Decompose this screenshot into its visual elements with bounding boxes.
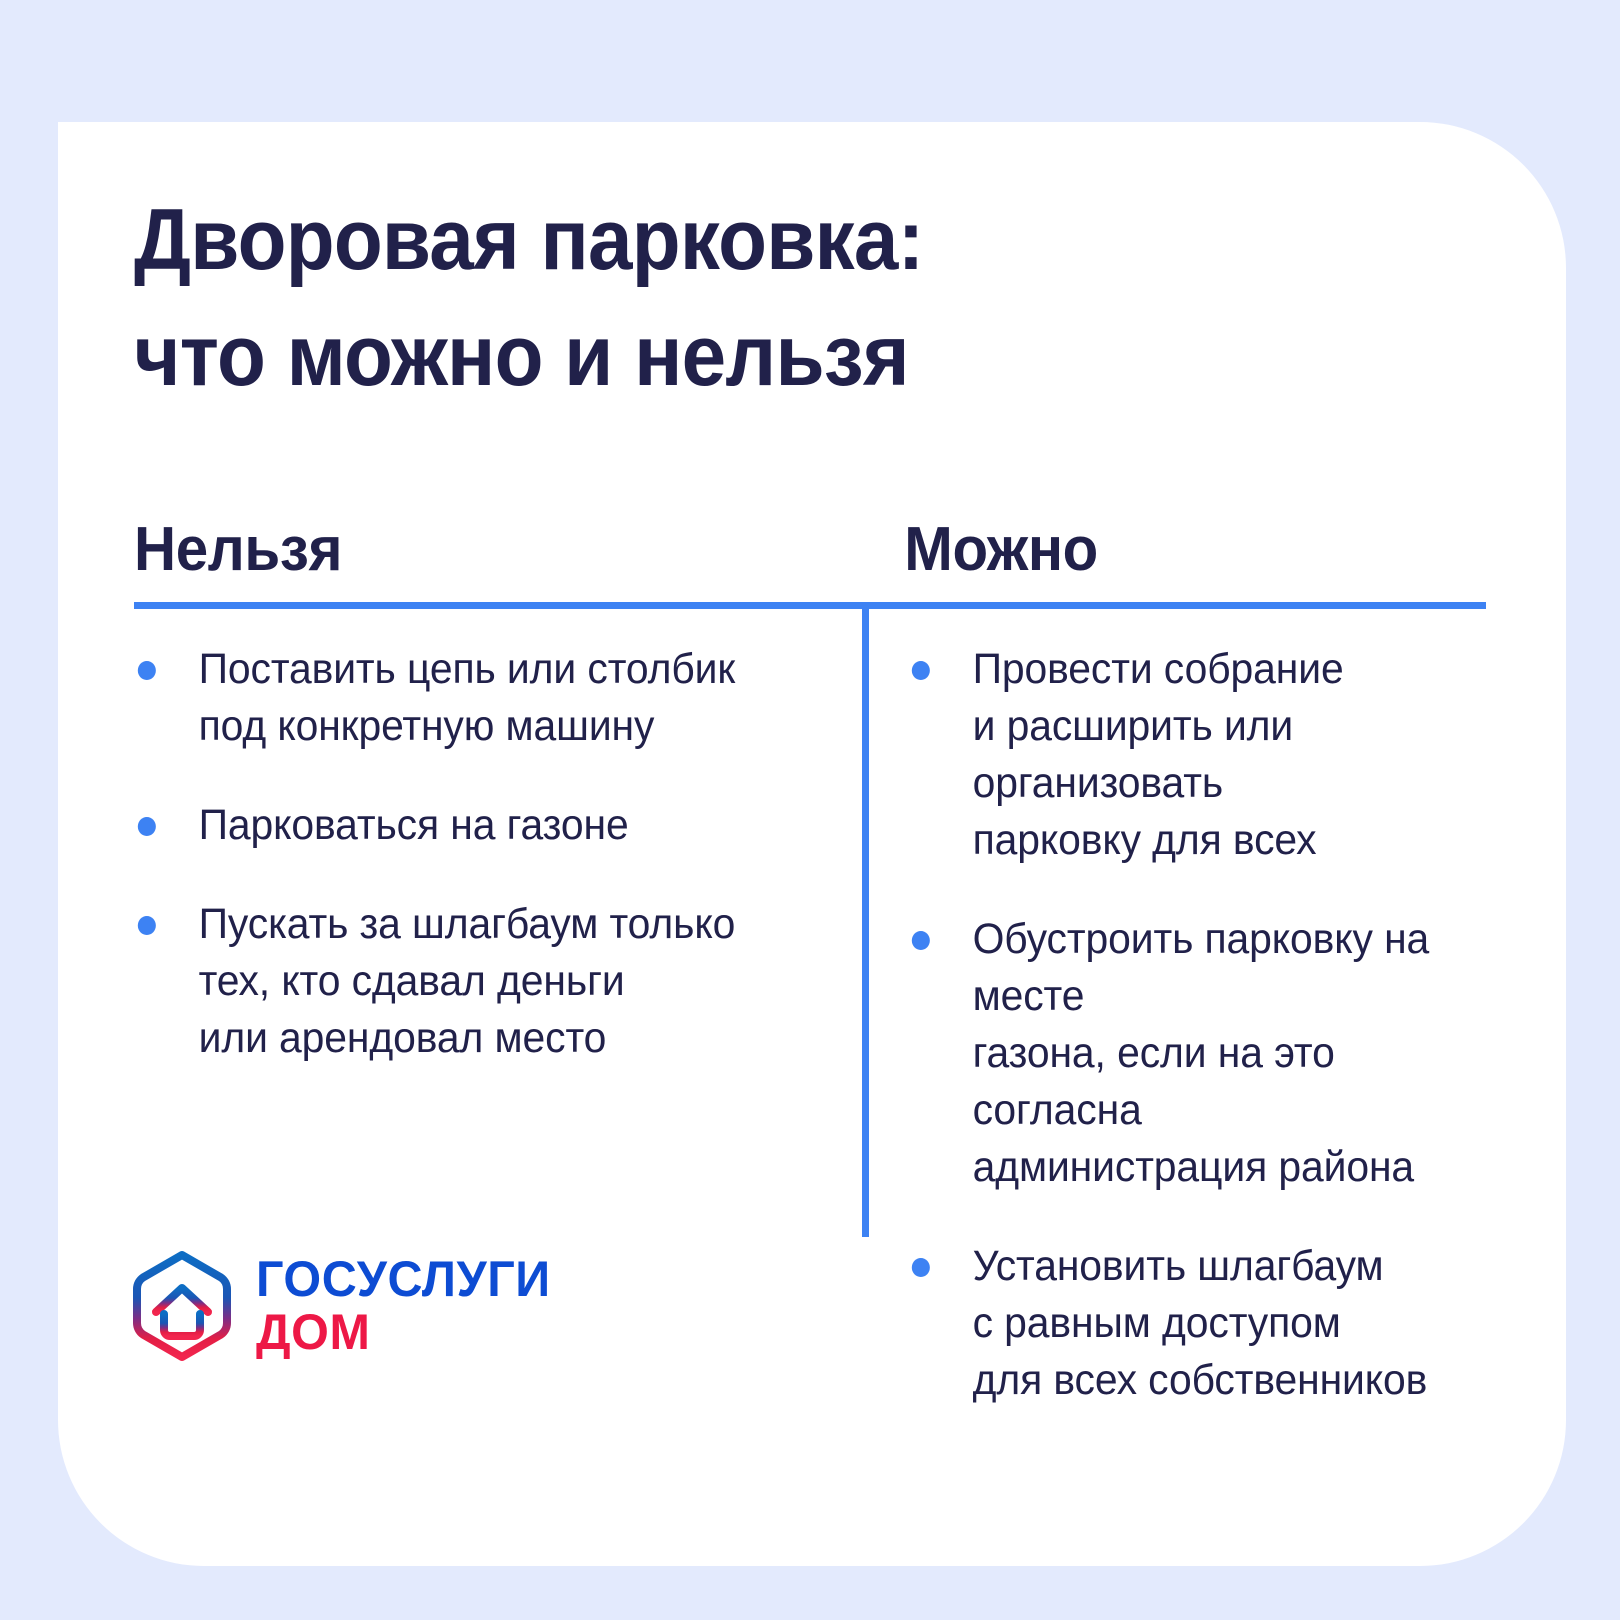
- list-item-text: Провести собрание и расширить или органи…: [973, 641, 1458, 869]
- comparison-headers: Нельзя Можно: [134, 480, 1486, 602]
- bullet-dot-icon: [912, 1258, 930, 1277]
- logo-wordmark: ГОСУСЛУГИ ДОМ: [256, 1253, 560, 1359]
- allowed-list: Провести собрание и расширить или органи…: [908, 641, 1486, 1409]
- info-card: Дворовая парковка: что можно и нельзя Не…: [58, 122, 1566, 1566]
- logo-word-dom: ДОМ: [256, 1305, 551, 1359]
- column-header-forbidden: Нельзя: [134, 480, 803, 602]
- list-item: Установить шлагбаум с равным доступом дл…: [908, 1238, 1457, 1409]
- list-item-text: Установить шлагбаум с равным доступом дл…: [973, 1238, 1458, 1409]
- bullet-dot-icon: [138, 661, 156, 680]
- bullet-dot-icon: [912, 931, 930, 950]
- column-header-allowed: Можно: [846, 480, 1448, 602]
- horizontal-divider: [134, 602, 1486, 609]
- bullet-dot-icon: [138, 817, 156, 836]
- list-item-text: Обустроить парковку на месте газона, есл…: [973, 911, 1458, 1196]
- title-line-2: что можно и нельзя: [134, 298, 1306, 414]
- list-item: Обустроить парковку на месте газона, есл…: [908, 911, 1457, 1196]
- logo-word-gosuslugi: ГОСУСЛУГИ: [256, 1253, 551, 1305]
- poster-root: Дворовая парковка: что можно и нельзя Не…: [0, 0, 1620, 1620]
- forbidden-list: Поставить цепь или столбик под конкретну…: [134, 641, 846, 1067]
- list-item: Провести собрание и расширить или органи…: [908, 641, 1457, 869]
- list-item: Поставить цепь или столбик под конкретну…: [134, 641, 810, 755]
- list-item: Пускать за шлагбаум только тех, кто сдав…: [134, 896, 810, 1067]
- list-item: Парковаться на газоне: [134, 797, 810, 854]
- list-item-text: Поставить цепь или столбик под конкретну…: [199, 641, 811, 755]
- bullet-dot-icon: [138, 916, 156, 935]
- house-in-hexagon-icon: [130, 1250, 234, 1362]
- list-item-text: Пускать за шлагбаум только тех, кто сдав…: [199, 896, 811, 1067]
- allowed-column: Провести собрание и расширить или органи…: [846, 641, 1486, 1409]
- list-item-text: Парковаться на газоне: [199, 797, 811, 854]
- title-line-1: Дворовая парковка:: [134, 182, 1306, 298]
- page-title: Дворовая парковка: что можно и нельзя: [134, 182, 1394, 414]
- bullet-dot-icon: [912, 661, 930, 680]
- brand-logo: ГОСУСЛУГИ ДОМ: [130, 1250, 560, 1362]
- vertical-divider: [862, 609, 869, 1237]
